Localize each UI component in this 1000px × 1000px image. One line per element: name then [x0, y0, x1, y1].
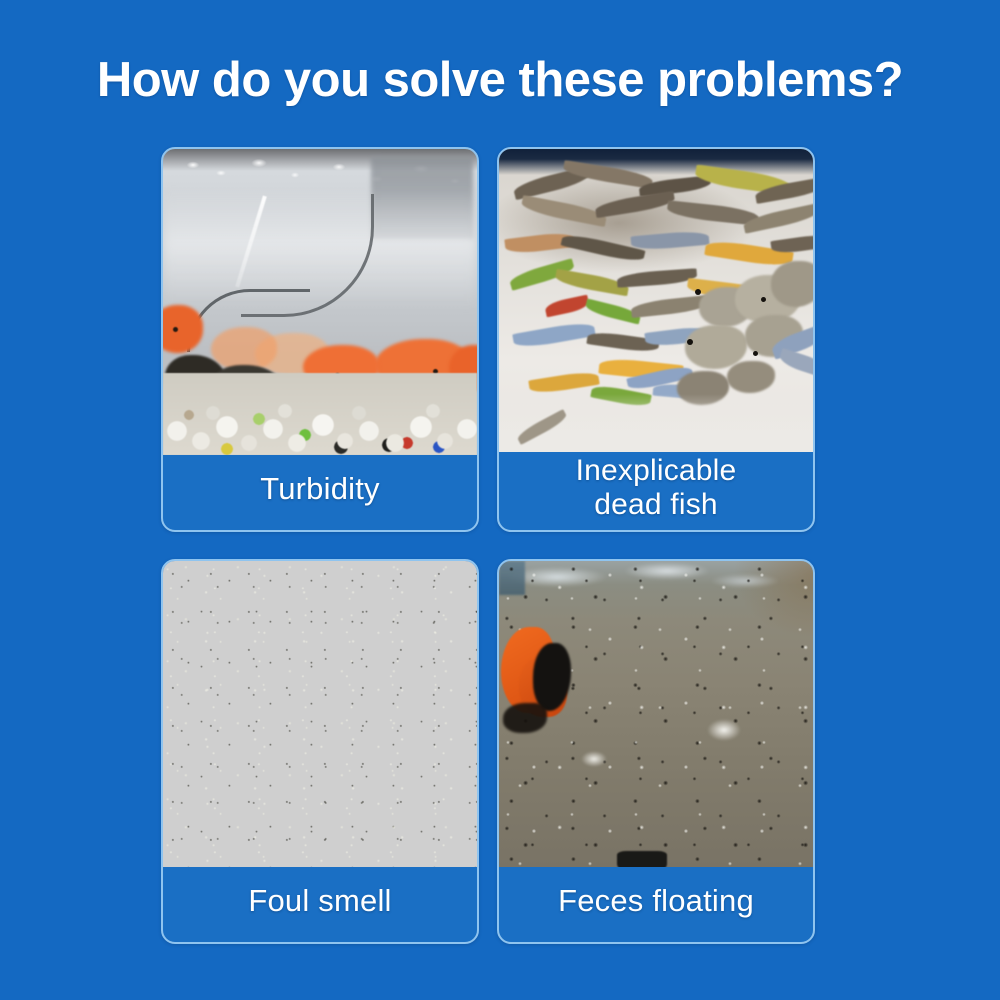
problem-card-foul-smell[interactable]: Foul smell [161, 559, 479, 944]
dead-fish-pile-photo [499, 149, 813, 452]
problem-card-turbidity[interactable]: Turbidity [161, 147, 479, 532]
card-caption-feces-floating: Feces floating [499, 867, 813, 942]
problem-card-grid: Turbidity [161, 147, 815, 944]
problem-card-feces-floating[interactable]: Feces floating [497, 559, 815, 944]
card-caption-foul-smell: Foul smell [163, 867, 477, 942]
cloudy-aquarium-photo [163, 149, 477, 455]
card-caption-line: Feces floating [558, 884, 754, 919]
card-caption-line: Inexplicable [576, 454, 737, 488]
scummy-water-photo [163, 561, 477, 867]
card-caption-dead-fish: Inexplicable dead fish [499, 452, 813, 530]
card-caption-turbidity: Turbidity [163, 455, 477, 530]
card-caption-line: Foul smell [248, 884, 391, 919]
card-caption-line: Turbidity [260, 472, 380, 507]
page-title: How do you solve these problems? [0, 56, 1000, 105]
card-caption-line: dead fish [576, 488, 737, 522]
problem-card-dead-fish[interactable]: Inexplicable dead fish [497, 147, 815, 532]
feces-in-water-photo [499, 561, 813, 867]
